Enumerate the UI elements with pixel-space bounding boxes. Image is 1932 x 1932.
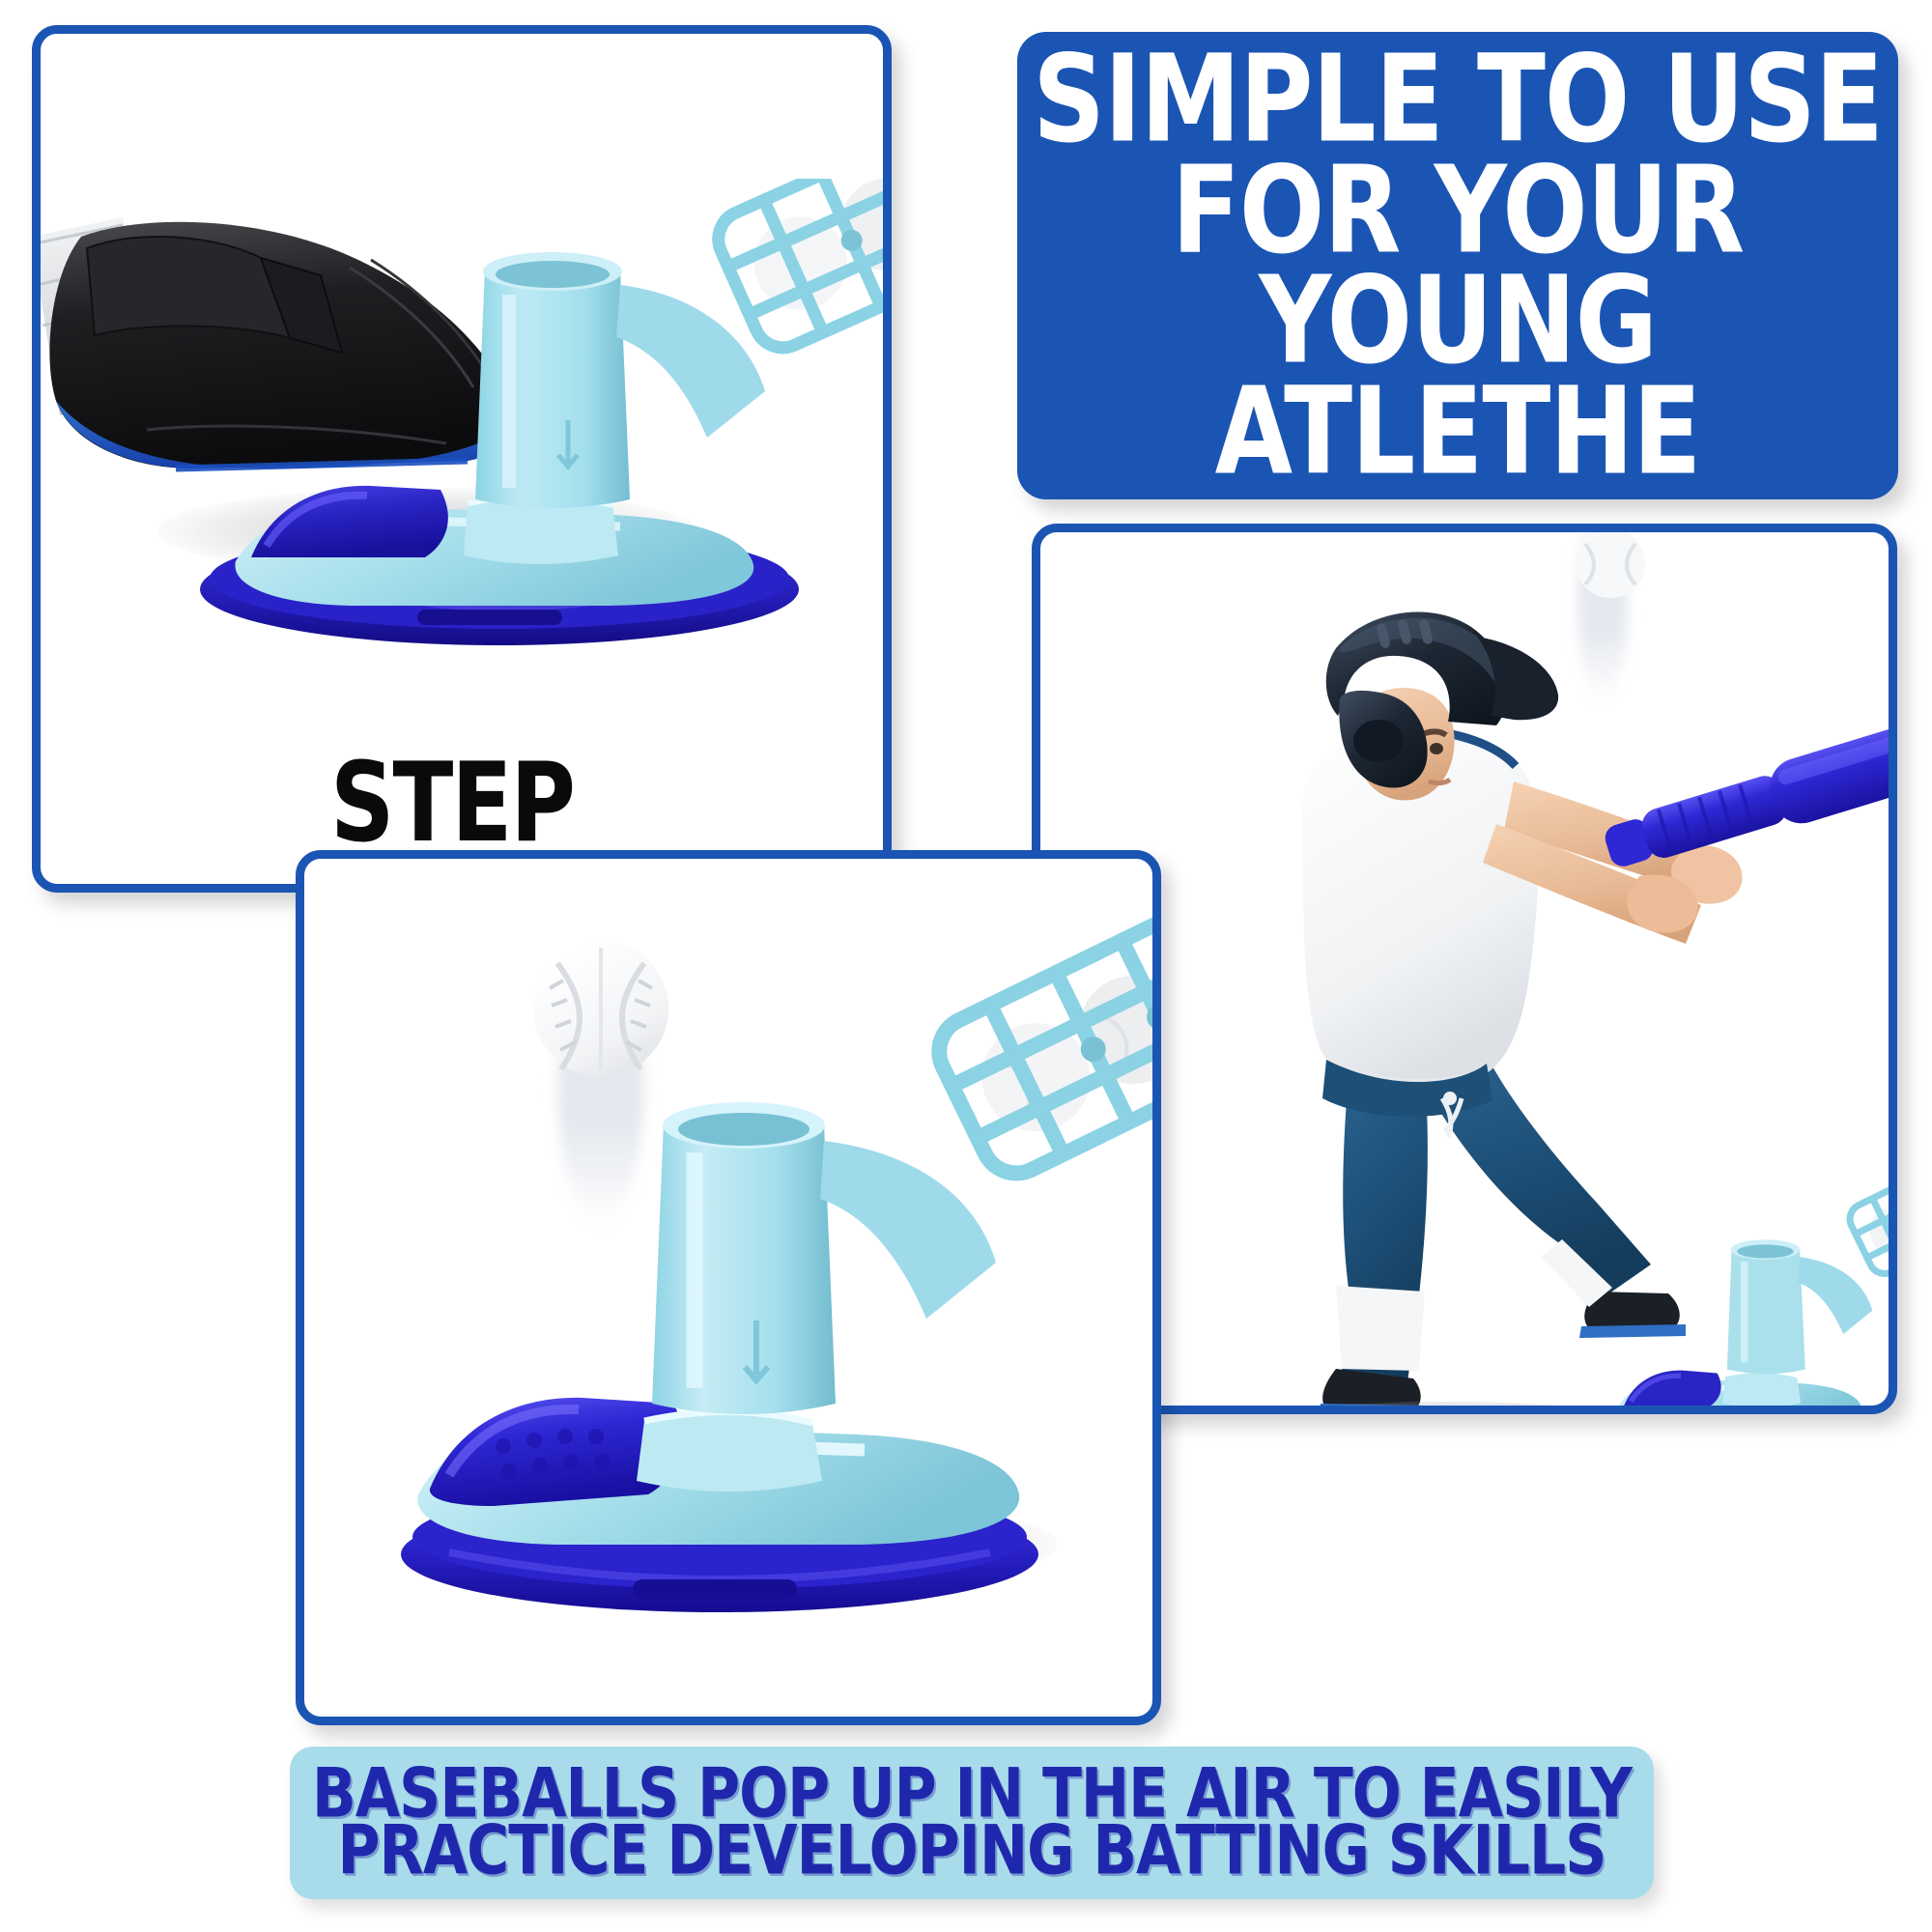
panel-pop: POP [296, 850, 1161, 1725]
bottom-banner: BASEBALLS POP UP IN THE AIR TO EASILY PR… [290, 1747, 1654, 1899]
hit-scene-art [1060, 524, 1897, 1414]
hit-photo [1040, 532, 1889, 1406]
panel-step: STEP [32, 25, 892, 893]
panel-hit: HIT [1032, 524, 1897, 1414]
headline-panel: SIMPLE TO USE FOR YOUR YOUNG ATLETHE [1017, 32, 1898, 499]
pop-scene-art [304, 850, 1154, 1709]
step-scene-art [32, 179, 892, 720]
headline-line-1: SIMPLE TO USE [1033, 43, 1883, 155]
caption-step: STEP [330, 739, 574, 867]
headline-line-4: ATLETHE [1033, 377, 1883, 488]
headline-text: SIMPLE TO USE FOR YOUR YOUNG ATLETHE [1015, 43, 1900, 487]
infographic-canvas: STEP SIMPLE TO USE FOR YOUR YOUNG ATLETH… [0, 0, 1932, 1932]
pop-photo [304, 859, 1152, 1717]
banner-line-2: PRACTICE DEVELOPING BATTING SKILLS [338, 1818, 1606, 1885]
